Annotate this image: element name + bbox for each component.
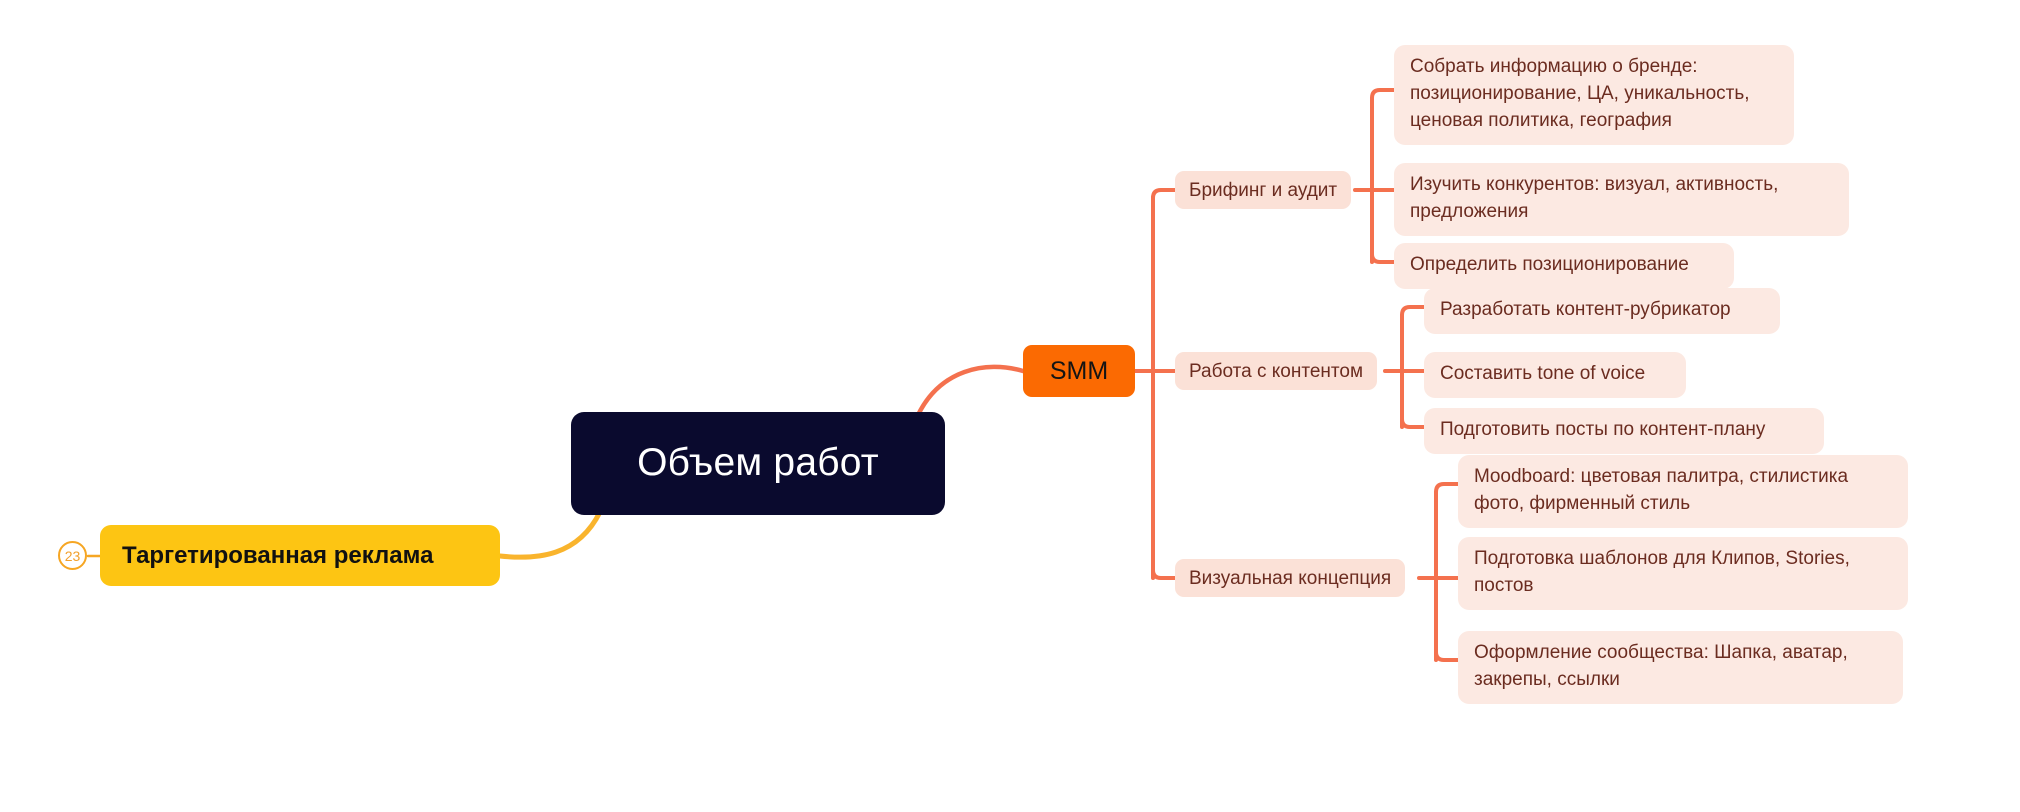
node-briefing-audit[interactable]: Брифинг и аудит — [1175, 171, 1351, 209]
node-templates-label: Подготовка шаблонов для Клипов, Stories,… — [1474, 546, 1892, 600]
node-briefing-audit-label: Брифинг и аудит — [1189, 181, 1337, 200]
connector-content-work-to-leaf-3 — [1402, 419, 1424, 427]
node-targeted-ads-label: Таргетированная реклама — [122, 542, 433, 570]
node-visual-concept-label: Визуальная концепция — [1189, 569, 1391, 588]
node-root[interactable]: Объем работ — [571, 412, 945, 515]
node-collect-brand-info-label: Собрать информацию о бренде: позициониро… — [1410, 54, 1778, 135]
node-study-competitors-label: Изучить конкурентов: визуал, активность,… — [1410, 172, 1833, 226]
topic-badge-label: 23 — [65, 549, 81, 563]
connector-visual-concept-to-leaf-1 — [1436, 484, 1458, 500]
node-moodboard-label: Moodboard: цветовая палитра, стилистика … — [1474, 464, 1892, 518]
node-content-rubricator[interactable]: Разработать контент-рубрикатор — [1424, 288, 1780, 334]
node-smm[interactable]: SMM — [1023, 345, 1135, 397]
node-templates[interactable]: Подготовка шаблонов для Клипов, Stories,… — [1458, 537, 1908, 610]
connector-root-to-smm — [918, 367, 1023, 415]
mindmap-canvas: 23 Таргетированная реклама Объем работ S… — [0, 0, 2020, 812]
topic-badge-23[interactable]: 23 — [58, 541, 87, 570]
node-content-work[interactable]: Работа с контентом — [1175, 352, 1377, 390]
connector-root-to-targeted-ads — [500, 512, 600, 557]
node-visual-concept[interactable]: Визуальная концепция — [1175, 559, 1405, 597]
node-content-work-label: Работа с контентом — [1189, 362, 1363, 381]
node-define-positioning-label: Определить позиционирование — [1410, 252, 1689, 279]
node-smm-label: SMM — [1050, 357, 1108, 386]
node-targeted-ads[interactable]: Таргетированная реклама — [100, 525, 500, 586]
node-community-design-label: Оформление сообщества: Шапка, аватар, за… — [1474, 640, 1887, 694]
node-prepare-posts[interactable]: Подготовить посты по контент-плану — [1424, 408, 1824, 454]
connector-visual-concept-to-leaf-3 — [1436, 652, 1458, 660]
node-tone-of-voice-label: Составить tone of voice — [1440, 361, 1645, 388]
node-content-rubricator-label: Разработать контент-рубрикатор — [1440, 297, 1731, 324]
node-tone-of-voice[interactable]: Составить tone of voice — [1424, 352, 1686, 398]
node-prepare-posts-label: Подготовить посты по контент-плану — [1440, 417, 1765, 444]
node-moodboard[interactable]: Moodboard: цветовая палитра, стилистика … — [1458, 455, 1908, 528]
node-community-design[interactable]: Оформление сообщества: Шапка, аватар, за… — [1458, 631, 1903, 704]
connector-content-work-to-leaf-1 — [1402, 307, 1424, 323]
connector-trunk-to-briefing-audit — [1153, 190, 1175, 205]
connector-briefing-audit-to-leaf-3 — [1372, 254, 1394, 262]
connector-briefing-audit-to-leaf-1 — [1372, 90, 1394, 106]
node-define-positioning[interactable]: Определить позиционирование — [1394, 243, 1734, 289]
node-root-label: Объем работ — [637, 442, 879, 485]
node-collect-brand-info[interactable]: Собрать информацию о бренде: позициониро… — [1394, 45, 1794, 145]
node-study-competitors[interactable]: Изучить конкурентов: визуал, активность,… — [1394, 163, 1849, 236]
connector-trunk-to-visual-concept — [1153, 570, 1175, 578]
